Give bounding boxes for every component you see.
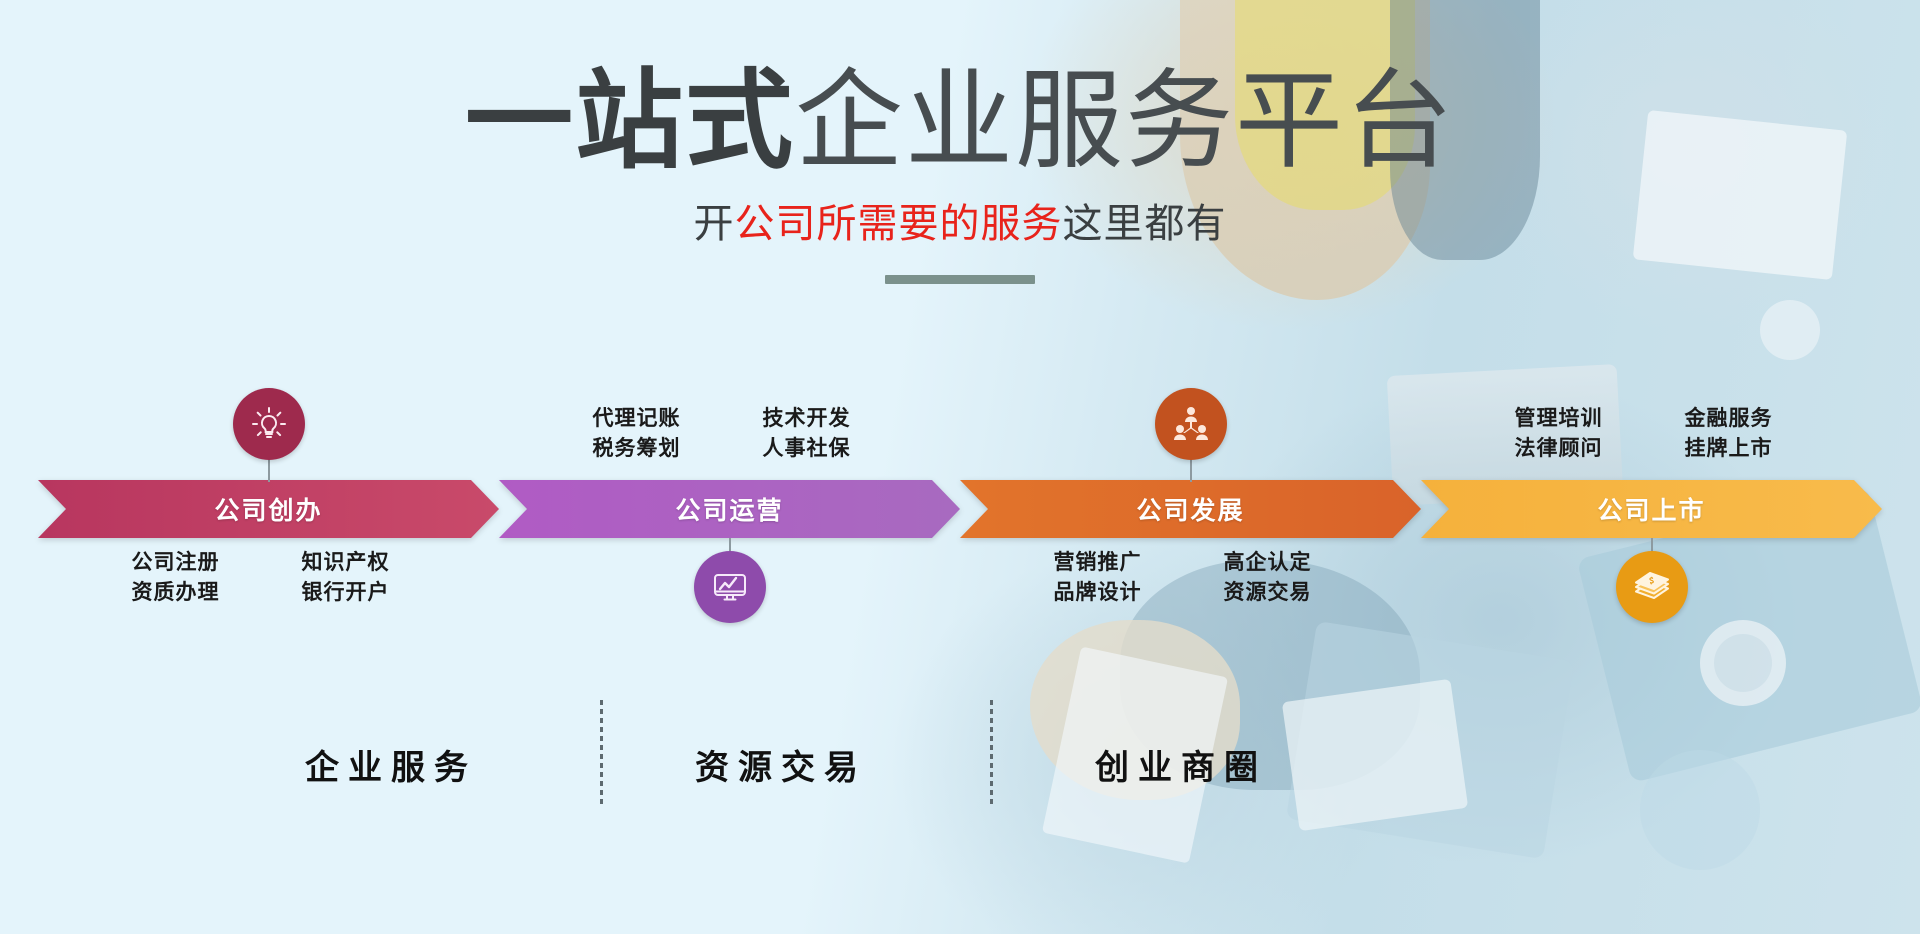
- infographic-canvas: 一站式企业服务平台 开公司所需要的服务这里都有 公司创办 公司注册资质办理知识产…: [0, 0, 1920, 934]
- lightbulb-icon[interactable]: [233, 388, 305, 460]
- stage-service-block: 营销推广品牌设计: [1054, 548, 1142, 608]
- background-shape: [1282, 679, 1468, 831]
- stage-label: 公司运营: [675, 491, 783, 527]
- page-title: 一站式企业服务平台: [0, 64, 1920, 177]
- background-shape: [1286, 621, 1574, 859]
- subtitle-suffix: 这里都有: [1063, 202, 1227, 246]
- subtitle-prefix: 开: [694, 202, 735, 246]
- service-line: 人事社保: [763, 434, 851, 464]
- category-label-3[interactable]: 创业商圈: [1095, 740, 1267, 789]
- service-line: 银行开户: [302, 578, 390, 608]
- service-line: 资质办理: [132, 578, 220, 608]
- service-line: 代理记账: [593, 404, 681, 434]
- service-line: 知识产权: [302, 548, 390, 578]
- stage-service-block: 公司注册资质办理: [132, 548, 220, 608]
- title-emphasis: 一站式: [465, 60, 795, 181]
- category-label-2[interactable]: 资源交易: [695, 740, 867, 789]
- stage-service-block: 管理培训法律顾问: [1515, 404, 1603, 464]
- stage-service-block: 知识产权银行开户: [302, 548, 390, 608]
- monitor-chart-icon[interactable]: [694, 551, 766, 623]
- timeline-stage-3[interactable]: 公司发展: [960, 480, 1421, 538]
- title-rest: 企业服务平台: [795, 60, 1455, 181]
- service-line: 税务筹划: [593, 434, 681, 464]
- header: 一站式企业服务平台 开公司所需要的服务这里都有: [0, 0, 1920, 284]
- service-line: 公司注册: [132, 548, 220, 578]
- team-people-icon[interactable]: [1155, 388, 1227, 460]
- timeline-stage-1[interactable]: 公司创办: [38, 480, 499, 538]
- stage-label: 公司发展: [1136, 491, 1244, 527]
- service-line: 技术开发: [763, 404, 851, 434]
- money-stack-icon[interactable]: [1616, 551, 1688, 623]
- page-subtitle: 开公司所需要的服务这里都有: [0, 191, 1920, 249]
- service-line: 高企认定: [1224, 548, 1312, 578]
- service-line: 金融服务: [1685, 404, 1773, 434]
- stage-service-block: 代理记账税务筹划: [593, 404, 681, 464]
- service-line: 资源交易: [1224, 578, 1312, 608]
- service-line: 管理培训: [1515, 404, 1603, 434]
- stage-service-block: 金融服务挂牌上市: [1685, 404, 1773, 464]
- subtitle-highlight: 公司所需要的服务: [735, 202, 1063, 246]
- stage-service-block: 技术开发人事社保: [763, 404, 851, 464]
- stage-service-block: 高企认定资源交易: [1224, 548, 1312, 608]
- category-label-1[interactable]: 企业服务: [305, 740, 477, 789]
- title-underline-rule: [885, 275, 1035, 284]
- background-shape: [1700, 620, 1786, 706]
- category-divider: [600, 700, 603, 808]
- background-shape: [1640, 750, 1760, 870]
- category-divider: [990, 700, 993, 808]
- service-line: 挂牌上市: [1685, 434, 1773, 464]
- stage-label: 公司上市: [1597, 491, 1705, 527]
- service-line: 法律顾问: [1515, 434, 1603, 464]
- timeline-stage-2[interactable]: 公司运营: [499, 480, 960, 538]
- service-line: 营销推广: [1054, 548, 1142, 578]
- stage-label: 公司创办: [214, 491, 322, 527]
- background-shape: [1760, 300, 1820, 360]
- service-line: 品牌设计: [1054, 578, 1142, 608]
- timeline-stage-4[interactable]: 公司上市: [1421, 480, 1882, 538]
